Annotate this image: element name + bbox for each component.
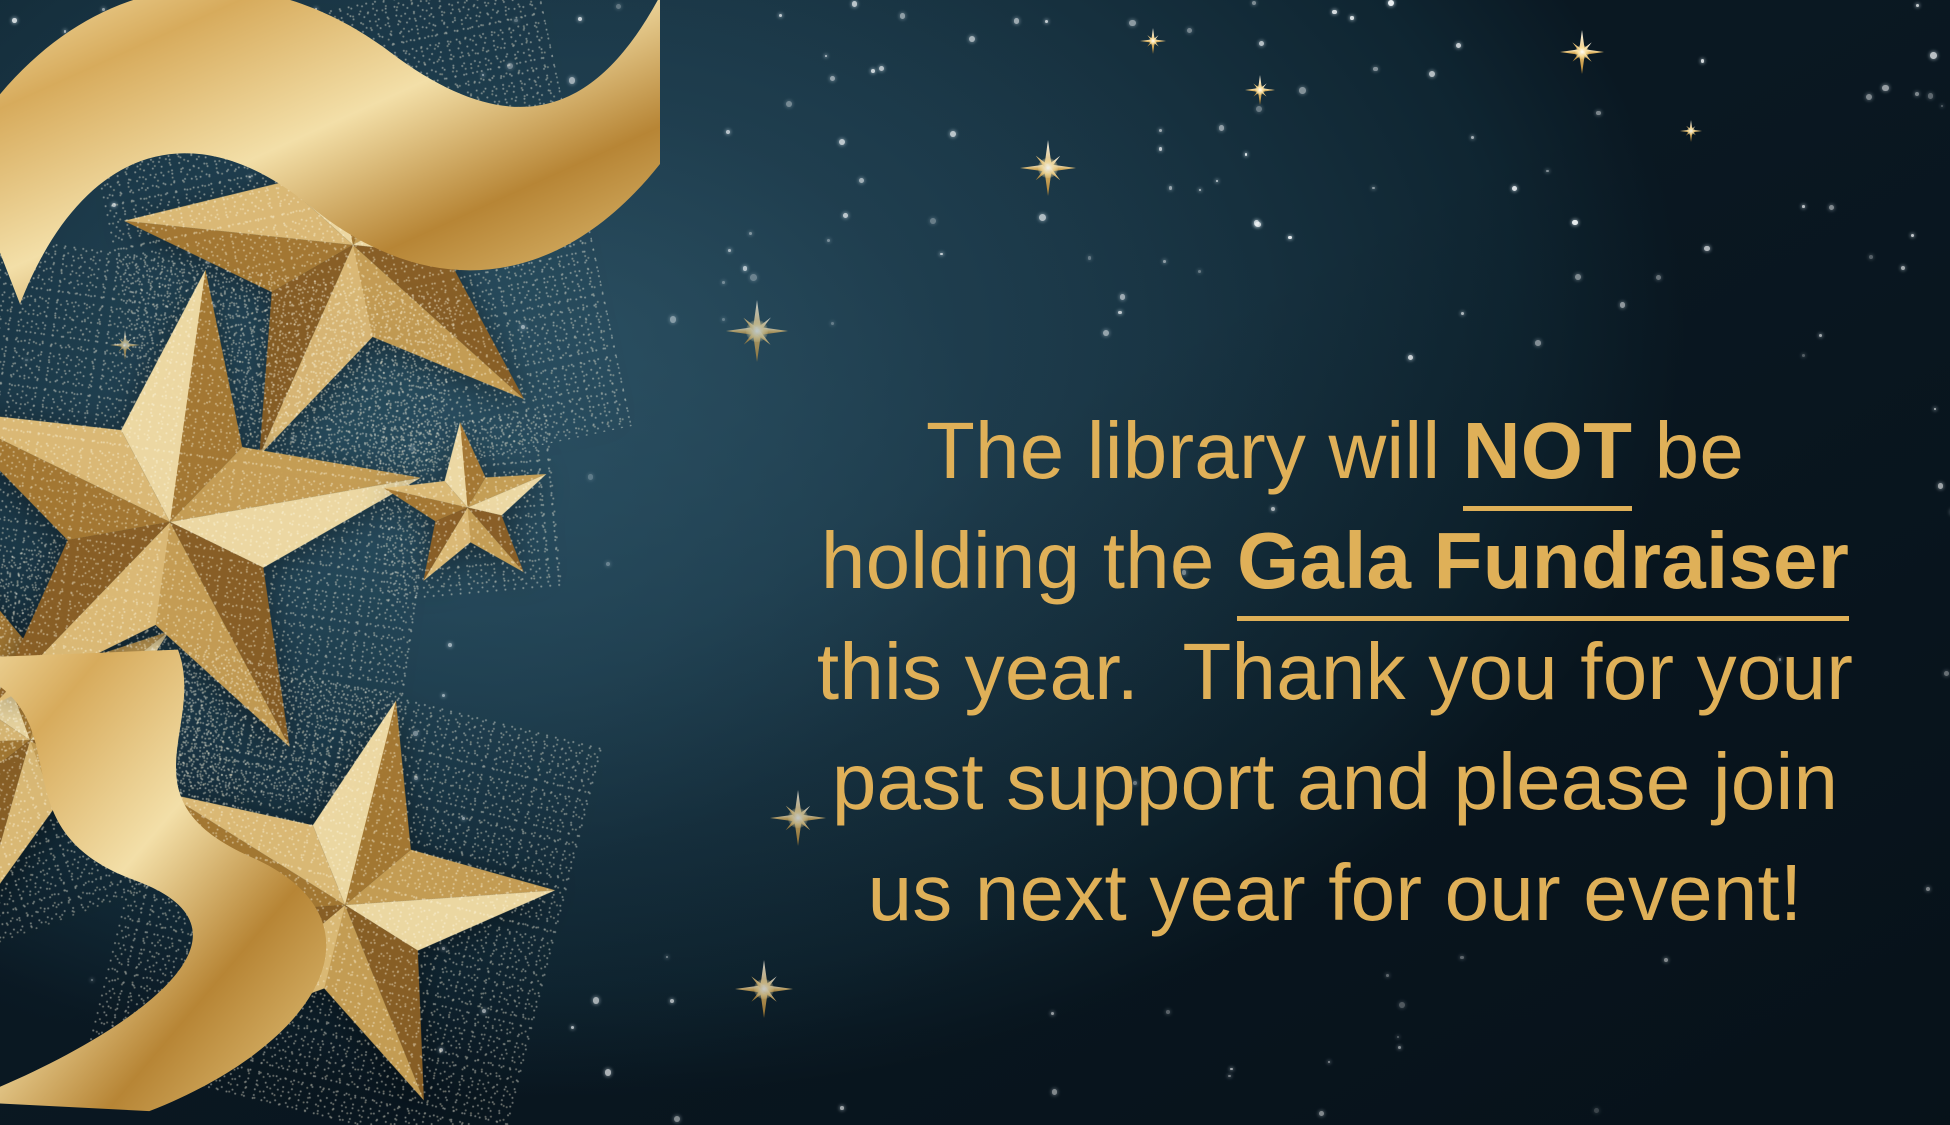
emphasized-term: Gala Fundraiser	[1237, 516, 1849, 621]
message-text: this year. Thank you for your	[817, 627, 1853, 716]
message-text: holding the	[821, 516, 1237, 605]
message-text: us next year for our event!	[868, 848, 1803, 937]
line-1: The library will NOT be	[760, 396, 1910, 506]
gold-star-small-mid	[373, 413, 563, 603]
emphasized-term: NOT	[1463, 406, 1632, 511]
gold-ribbon-top-left	[0, 0, 660, 360]
message-text: The library will	[926, 406, 1463, 495]
message-text: be	[1632, 406, 1744, 495]
message-text: past support and please join	[832, 737, 1838, 826]
line-5: us next year for our event!	[760, 838, 1910, 948]
gold-ribbon-bottom-left	[0, 640, 350, 1125]
greeting-card-canvas: The library will NOT beholding the Gala …	[0, 0, 1950, 1125]
announcement-message: The library will NOT beholding the Gala …	[760, 396, 1910, 948]
line-3: this year. Thank you for your	[760, 617, 1910, 727]
line-2: holding the Gala Fundraiser	[760, 506, 1910, 616]
line-4: past support and please join	[760, 727, 1910, 837]
